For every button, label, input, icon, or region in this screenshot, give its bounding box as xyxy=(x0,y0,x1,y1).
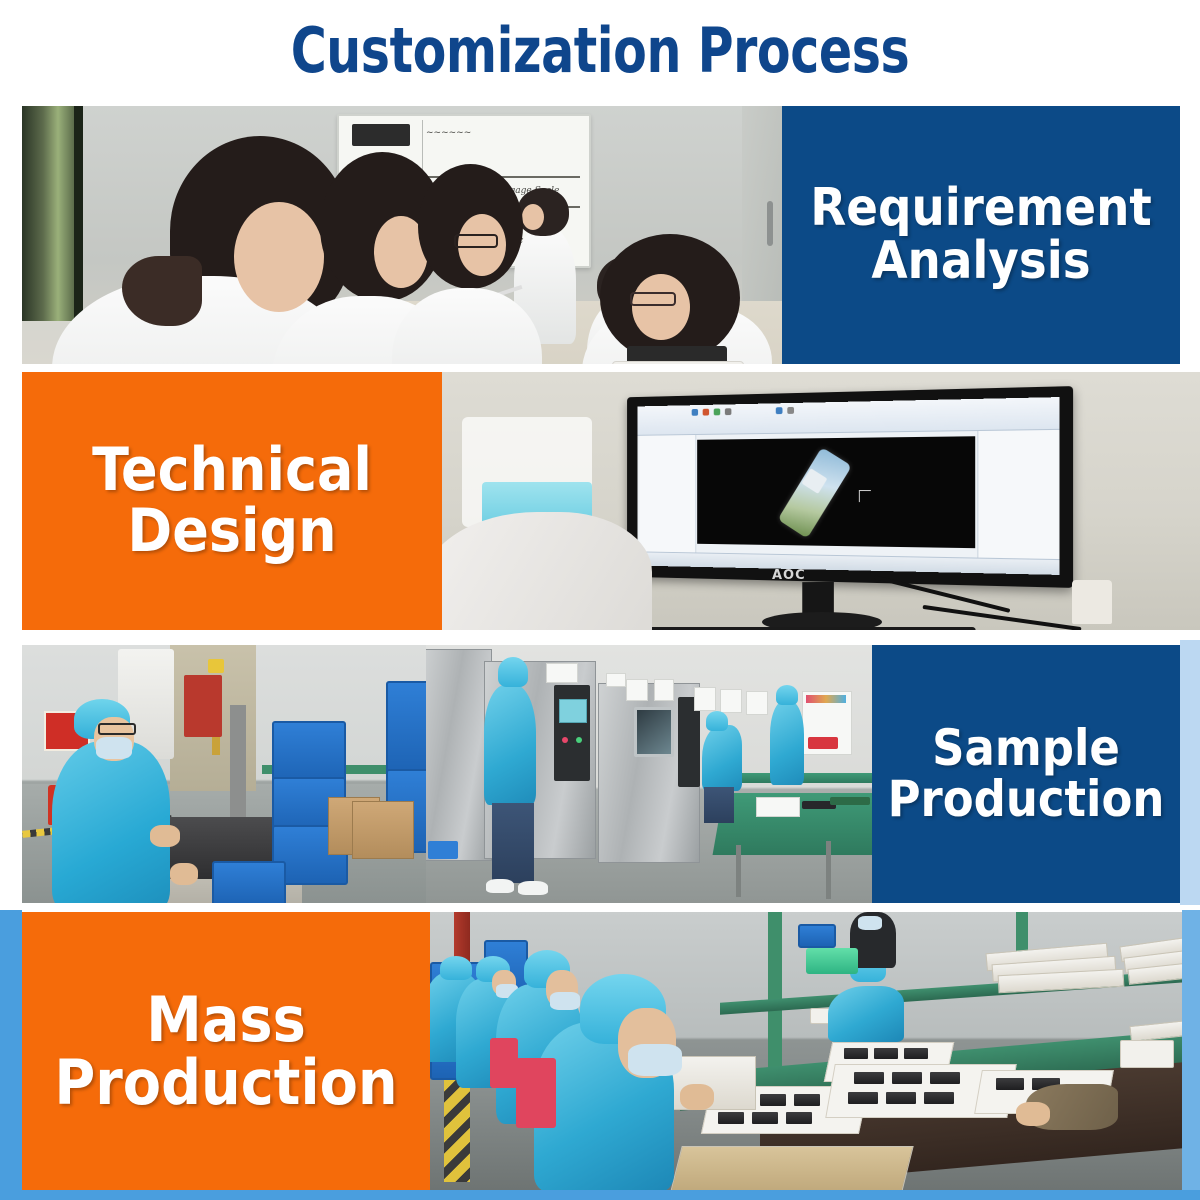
blue-bin xyxy=(428,841,458,859)
monitor-screen xyxy=(638,397,1060,575)
taskbar-icon xyxy=(776,407,783,414)
component xyxy=(996,1078,1024,1090)
wall-document xyxy=(694,687,716,711)
process-step-row-2: Technical Design xyxy=(22,372,1200,630)
meeting-room-photo: ~~~~~~ Luggage Scale Body Scale Kitchen … xyxy=(22,106,782,364)
test-chamber xyxy=(426,649,492,861)
component xyxy=(874,1048,898,1059)
drill-press-photo xyxy=(22,645,426,903)
eyeglasses xyxy=(630,292,676,306)
step-3-label-line-2: Production xyxy=(888,774,1165,825)
wall-document xyxy=(546,663,578,683)
step-1-photo: ~~~~~~ Luggage Scale Body Scale Kitchen … xyxy=(22,106,782,364)
left-edge-band xyxy=(0,910,22,1200)
component xyxy=(718,1112,744,1124)
assembly-worker-hand xyxy=(680,1084,714,1110)
process-step-row-4: Mass Production xyxy=(22,912,1200,1190)
technician-coat xyxy=(770,701,804,785)
assembly-worker-hand xyxy=(1016,1102,1050,1126)
cad-feature-tree-panel xyxy=(639,435,696,556)
wall-document xyxy=(626,679,648,701)
right-edge-band xyxy=(1182,910,1200,1200)
component xyxy=(760,1094,786,1106)
safety-glasses-icon xyxy=(98,723,136,735)
red-tray xyxy=(808,737,838,749)
scale-device xyxy=(612,361,744,364)
technician-shoe xyxy=(486,879,514,893)
chamber-indicator xyxy=(562,737,568,743)
technician-cap xyxy=(706,711,728,731)
blue-bin xyxy=(798,924,836,948)
step-2-photo: AOC xyxy=(442,372,1200,630)
step-3-label-block[interactable]: Sample Production xyxy=(872,645,1180,903)
step-4-label-line-2: Production xyxy=(54,1051,397,1114)
chart-color-band xyxy=(806,695,846,703)
whiteboard-header-note xyxy=(352,124,410,146)
wall-document xyxy=(606,673,626,687)
worker-coat xyxy=(52,741,170,903)
component xyxy=(752,1112,778,1124)
drill-press-column xyxy=(230,705,246,825)
component xyxy=(844,1048,868,1059)
worker-hand xyxy=(170,863,198,885)
component xyxy=(892,1072,922,1084)
step-4-label-line-1: Mass xyxy=(146,988,306,1051)
technician-cap xyxy=(776,685,798,705)
component xyxy=(924,1092,954,1104)
cad-3d-viewport xyxy=(697,436,975,548)
drill-press-motor xyxy=(184,675,222,737)
blue-crate xyxy=(386,681,426,775)
wall-document xyxy=(654,679,674,701)
page-title: Customization Process xyxy=(72,0,1128,100)
hazard-label xyxy=(208,659,224,673)
chamber-indicator xyxy=(576,737,582,743)
document-on-table xyxy=(756,797,800,817)
wall-document xyxy=(720,689,742,713)
power-socket xyxy=(1120,1040,1174,1068)
attendee-face xyxy=(234,202,324,312)
whiteboard-writing: ~~~~~~ xyxy=(426,128,471,138)
technician-cap xyxy=(498,657,528,687)
cad-properties-panel xyxy=(977,430,1058,563)
step-4-photo xyxy=(430,912,1200,1190)
step-3-label-line-1: Sample xyxy=(932,723,1120,774)
assembly-worker-mask xyxy=(550,992,580,1010)
bottom-edge-band xyxy=(0,1190,1200,1200)
component xyxy=(886,1092,916,1104)
drill-bit xyxy=(212,737,220,755)
taskbar-icon xyxy=(714,408,720,415)
eyeglasses xyxy=(454,234,498,248)
operator-shoulder xyxy=(442,512,652,630)
technician-shoe xyxy=(518,881,548,895)
component xyxy=(848,1092,878,1104)
technician-coat xyxy=(484,685,536,805)
technician-coat xyxy=(702,725,742,791)
component xyxy=(786,1112,812,1124)
device-on-table xyxy=(830,797,870,805)
wall-document xyxy=(746,691,768,715)
green-bin xyxy=(806,948,858,974)
assembly-line-photo xyxy=(430,912,1200,1190)
taskbar-icon xyxy=(787,407,794,414)
component xyxy=(794,1094,820,1106)
step-1-label-line-1: Requirement xyxy=(810,182,1152,235)
step-1-label-block[interactable]: Requirement Analysis xyxy=(782,106,1180,364)
process-step-row-3: Sample Production xyxy=(22,645,1180,903)
presenter-face xyxy=(522,204,544,230)
stool xyxy=(490,1038,518,1088)
assembly-worker-cap xyxy=(440,956,472,980)
component xyxy=(854,1072,884,1084)
technician-jeans xyxy=(492,803,534,883)
monitor-brand-label: AOC xyxy=(772,568,806,583)
cardboard-box xyxy=(352,801,414,859)
monitor-stand-neck xyxy=(802,582,834,616)
face-mask xyxy=(96,737,132,759)
desk-item xyxy=(1072,580,1112,624)
taskbar-icon xyxy=(703,409,709,416)
attendee-face xyxy=(632,274,690,340)
row3-right-edge-band xyxy=(1180,640,1200,905)
environmental-test-lab-photo xyxy=(426,645,872,903)
process-step-row-1: ~~~~~~ Luggage Scale Body Scale Kitchen … xyxy=(22,106,1180,364)
taskbar-icon xyxy=(725,408,732,415)
chamber-window xyxy=(634,707,674,757)
component xyxy=(930,1072,960,1084)
blue-crate xyxy=(272,721,346,785)
cad-crosshair-cursor xyxy=(859,490,871,502)
cad-workstation-photo: AOC xyxy=(442,372,1200,630)
supervisor-mask xyxy=(858,916,882,930)
step-3-photo-left xyxy=(22,645,426,903)
cardboard-sheet xyxy=(670,1146,913,1190)
stool xyxy=(516,1058,556,1128)
step-2-label-line-2: Design xyxy=(127,501,336,562)
chamber-display xyxy=(559,699,587,723)
assembly-worker-mask xyxy=(628,1044,682,1076)
step-1-label-line-2: Analysis xyxy=(871,235,1090,288)
step-3-photo-mid xyxy=(426,645,872,903)
window-light xyxy=(22,106,82,321)
step-2-label-block[interactable]: Technical Design xyxy=(22,372,442,630)
table-leg xyxy=(736,845,741,897)
window-frame xyxy=(74,106,83,336)
door-handle xyxy=(767,201,773,246)
step-4-label-block[interactable]: Mass Production xyxy=(22,912,430,1190)
component xyxy=(904,1048,928,1059)
assembly-worker-coat xyxy=(828,986,904,1042)
worker-hand xyxy=(150,825,180,847)
technician-jeans xyxy=(704,787,734,823)
step-2-label-line-1: Technical xyxy=(92,440,372,501)
table-leg xyxy=(826,841,831,899)
taskbar-icon xyxy=(692,409,698,416)
blue-crate xyxy=(212,861,286,903)
